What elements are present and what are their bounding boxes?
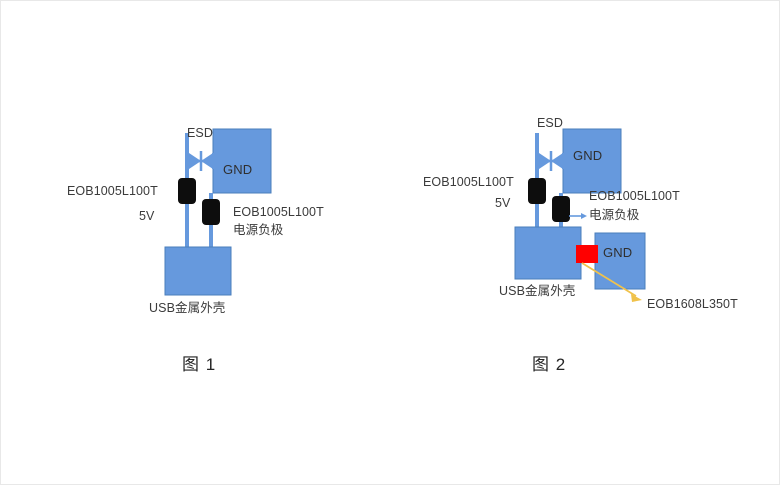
figure-2-right-component-label: EOB1005L100T <box>589 188 680 204</box>
figure-2-red-callout-arrow-icon <box>582 263 642 302</box>
diagram-page: ESD GND EOB1005L100T 5V EOB1005L100T 电源负… <box>0 0 780 485</box>
figure-1-usb-shell-label: USB金属外壳 <box>149 300 225 316</box>
figure-1-right-component-label: EOB1005L100T <box>233 204 324 220</box>
figure-1-usb-shell-block <box>165 247 231 295</box>
figure-1-gnd-label: GND <box>223 162 252 179</box>
figure-1-esd-label: ESD <box>187 125 213 141</box>
figure-1-gnd-block <box>213 129 271 193</box>
figure-1-caption: 图 1 <box>182 354 216 376</box>
figure-2-left-component-label: EOB1005L100T <box>423 174 514 190</box>
figure-2-component-right <box>552 196 570 222</box>
figure-2-esd-label: ESD <box>537 115 563 131</box>
figure-2-esd-diode-icon <box>537 151 563 171</box>
figure-2-component-left <box>528 178 546 204</box>
figure-1-graphics <box>1 1 780 485</box>
figure-2-usb-shell-label: USB金属外壳 <box>499 283 575 299</box>
figure-1-left-component-label: EOB1005L100T <box>67 183 158 199</box>
figure-2-pointer-arrow-icon <box>569 213 587 219</box>
figure-1-5v-label: 5V <box>139 208 155 224</box>
figure-1-esd-diode-icon <box>187 151 213 171</box>
figure-2-gnd-label-top: GND <box>573 148 602 165</box>
figure-2-usb-shell-block <box>515 227 581 279</box>
figure-2-5v-label: 5V <box>495 195 511 211</box>
figure-2-red-component-label: EOB1608L350T <box>647 296 738 312</box>
figure-1-right-component-note: 电源负极 <box>233 222 283 238</box>
figure-2-right-component-note: 电源负极 <box>589 207 639 223</box>
figure-1-component-left <box>178 178 196 204</box>
figure-2-component-red <box>576 245 598 263</box>
figure-1-component-right <box>202 199 220 225</box>
figure-2-gnd-label-bottom: GND <box>603 245 632 262</box>
figure-2-caption: 图 2 <box>532 354 566 376</box>
figure-2-graphics <box>1 1 780 485</box>
